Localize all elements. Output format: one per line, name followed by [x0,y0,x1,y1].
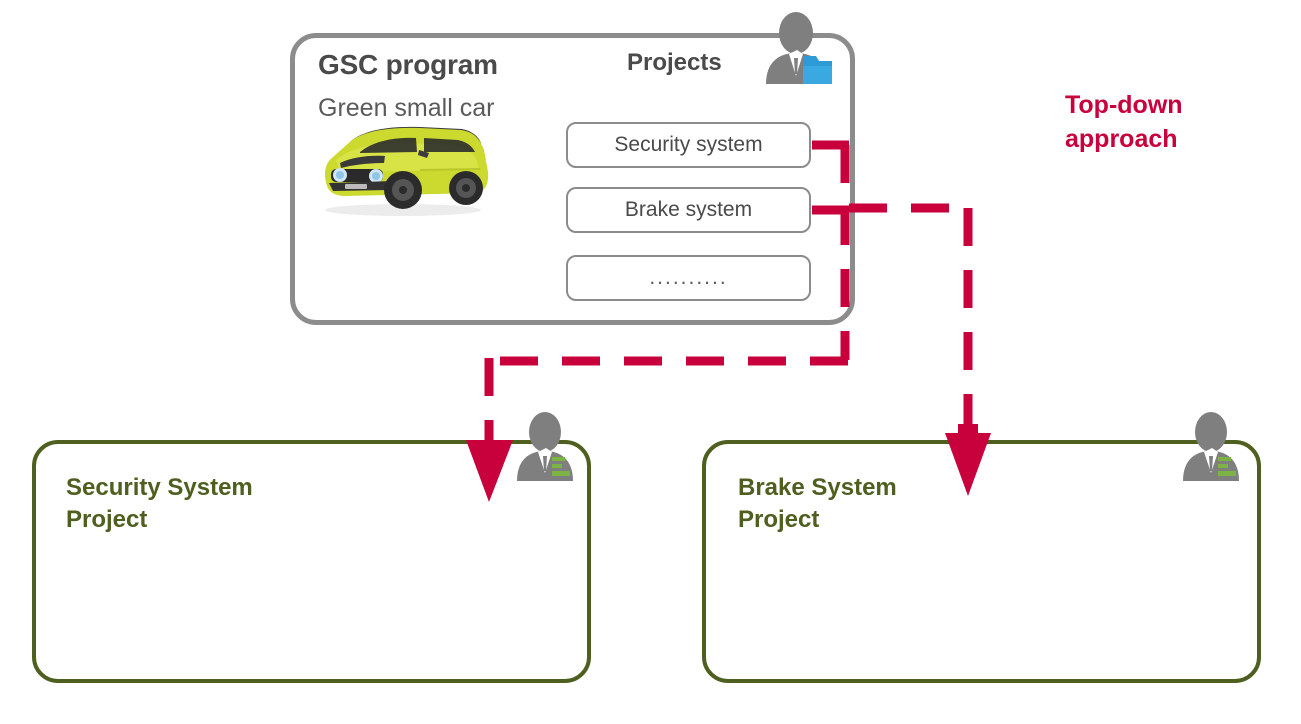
program-title: GSC program [318,49,498,81]
program-project-item-label: .......... [649,266,727,290]
project-title-security-system: Security System Project [66,472,253,535]
diagram-canvas: GSC program Green small car Projects [0,0,1301,724]
program-project-item-more[interactable]: .......... [566,255,811,301]
project-title-brake-system: Brake System Project [738,472,897,535]
program-project-item-label: Security system [614,133,762,157]
program-project-item-brake-system[interactable]: Brake system [566,187,811,233]
program-project-item-security-system[interactable]: Security system [566,122,811,168]
top-down-approach-label: Top-down approach [1065,88,1183,156]
down-arrow-stub-brake-project [958,424,978,436]
projects-column-label: Projects [627,49,722,77]
program-subtitle: Green small car [318,94,494,123]
program-project-item-label: Brake system [625,198,752,222]
